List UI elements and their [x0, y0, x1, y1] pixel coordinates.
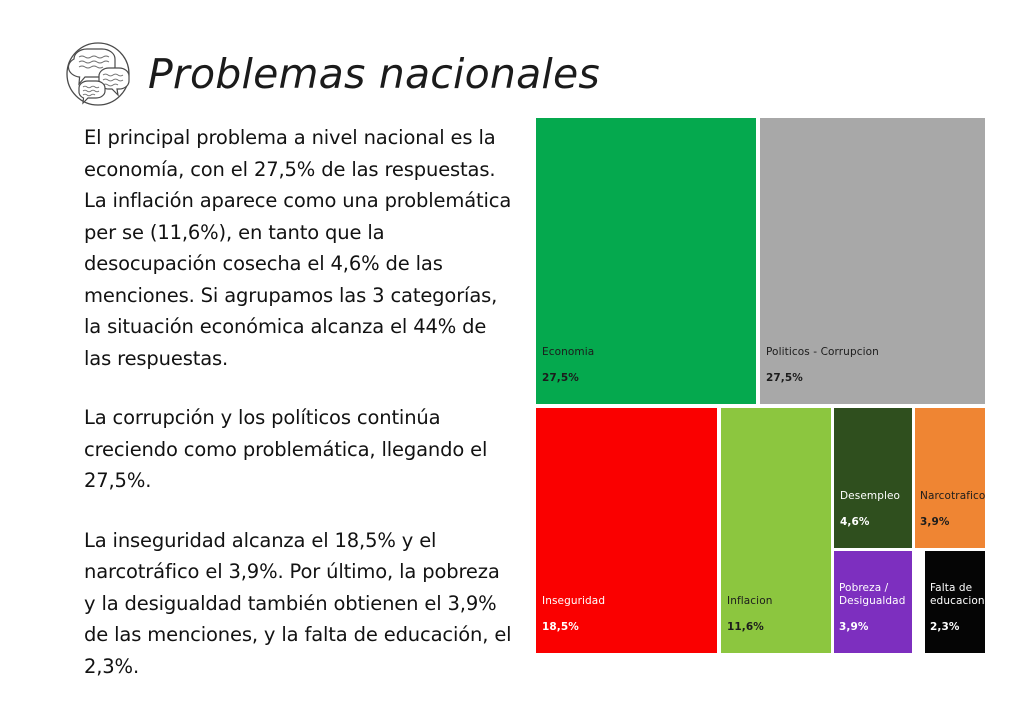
treemap-tile-narcotrafico[interactable]: Narcotrafico 3,9% — [915, 408, 985, 548]
tile-name: Pobreza / Desigualdad — [839, 582, 912, 608]
tile-value: 27,5% — [542, 372, 594, 385]
treemap-tile-label: Politicos - Corrupcion 27,5% — [766, 333, 879, 398]
tile-value: 3,9% — [920, 516, 985, 529]
tile-value: 3,9% — [839, 621, 912, 634]
tile-value: 27,5% — [766, 372, 879, 385]
tile-value: 18,5% — [542, 621, 605, 634]
paragraph-economy: El principal problema a nivel nacional e… — [84, 122, 514, 374]
tile-name: Falta de educacion — [930, 582, 985, 608]
treemap-tile-label: Desempleo 4,6% — [840, 477, 900, 542]
tile-name: Inflacion — [727, 595, 772, 608]
tile-value: 2,3% — [930, 621, 985, 634]
treemap-tile-label: Inflacion 11,6% — [727, 582, 772, 647]
tile-value: 4,6% — [840, 516, 900, 529]
treemap-tile-label: Narcotrafico 3,9% — [920, 477, 985, 542]
tile-name: Narcotrafico — [920, 490, 985, 503]
tile-name: Economia — [542, 346, 594, 359]
treemap-tile-inflacion[interactable]: Inflacion 11,6% — [721, 408, 831, 653]
paragraph-security: La inseguridad alcanza el 18,5% y el nar… — [84, 525, 514, 683]
tile-name: Politicos - Corrupcion — [766, 346, 879, 359]
page-title: Problemas nacionales — [148, 54, 600, 95]
tile-name: Desempleo — [840, 490, 900, 503]
paragraph-corruption: La corrupción y los políticos continúa c… — [84, 402, 514, 497]
tile-name: Inseguridad — [542, 595, 605, 608]
treemap-chart: Economia 27,5% Politicos - Corrupcion 27… — [536, 118, 985, 653]
treemap-tile-label: Falta de educacion 2,3% — [930, 569, 985, 647]
treemap-tile-inseguridad[interactable]: Inseguridad 18,5% — [536, 408, 717, 653]
speech-bubbles-circle-logo-icon — [62, 38, 134, 110]
tile-value: 11,6% — [727, 621, 772, 634]
treemap-tile-economia[interactable]: Economia 27,5% — [536, 118, 756, 404]
treemap-tile-politicos-corrupcion[interactable]: Politicos - Corrupcion 27,5% — [760, 118, 985, 404]
treemap-tile-desempleo[interactable]: Desempleo 4,6% — [834, 408, 912, 548]
treemap-tile-label: Economia 27,5% — [542, 333, 594, 398]
treemap-tile-pobreza-desigualdad[interactable]: Pobreza / Desigualdad 3,9% — [834, 551, 912, 653]
treemap-tile-label: Inseguridad 18,5% — [542, 582, 605, 647]
treemap-tile-falta-de-educacion[interactable]: Falta de educacion 2,3% — [925, 551, 985, 653]
narrative-text-column: El principal problema a nivel nacional e… — [84, 122, 514, 682]
page-header: Problemas nacionales — [62, 32, 622, 116]
treemap-tile-label: Pobreza / Desigualdad 3,9% — [839, 569, 912, 647]
